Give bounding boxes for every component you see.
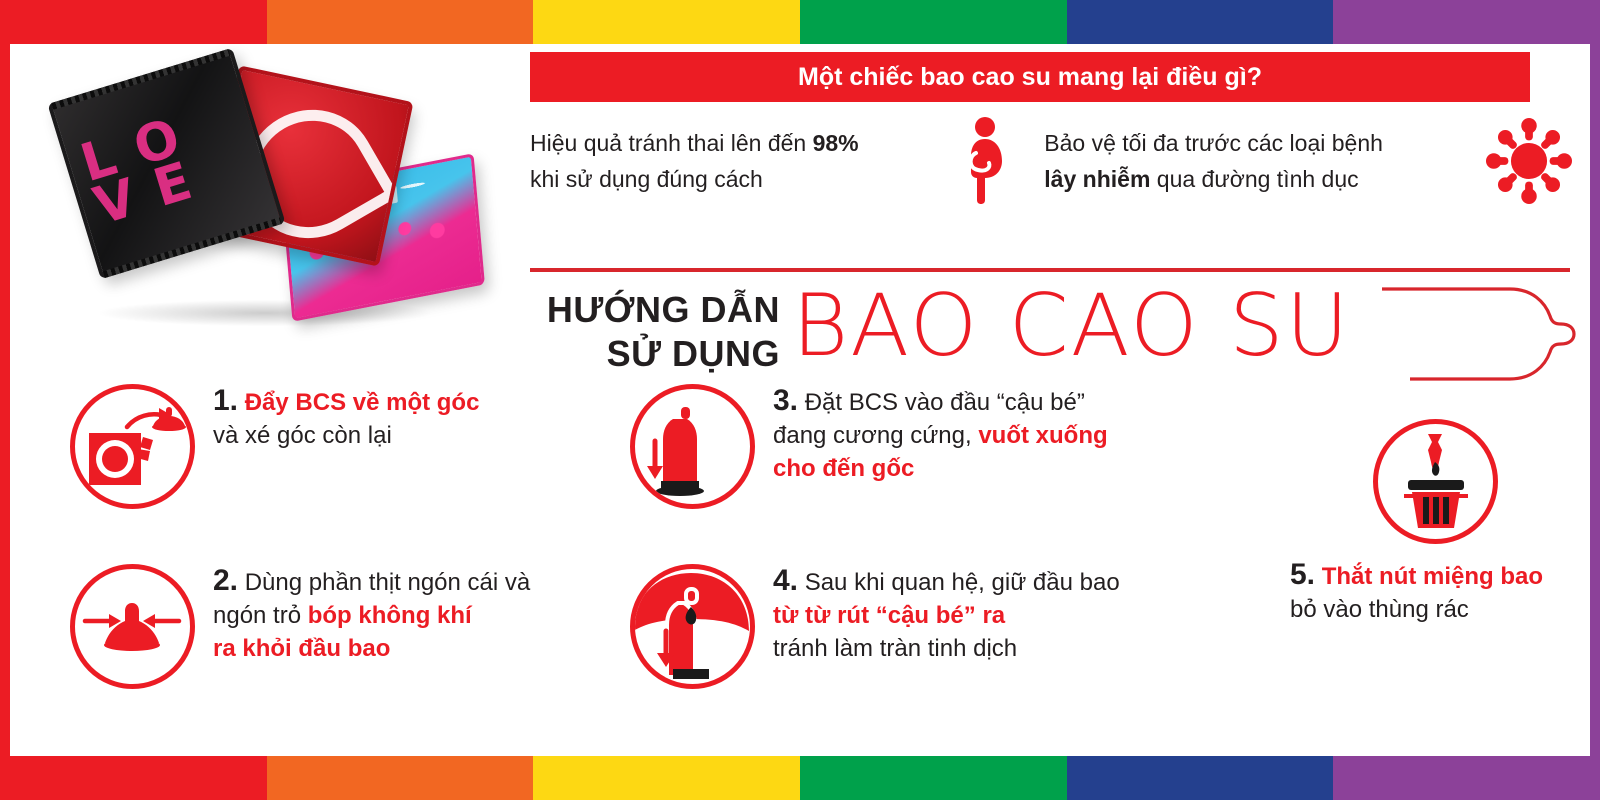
pregnant-woman-icon <box>934 116 1026 206</box>
step-5-highlight: Thắt nút miệng bao <box>1322 563 1543 590</box>
step-5-number: 5. <box>1290 558 1315 591</box>
rainbow-stripe-yellow <box>533 756 800 800</box>
condom-outline-icon <box>1382 266 1582 396</box>
withdraw-condom-icon <box>635 569 750 684</box>
stat-line1-pre: Hiệu quả tránh thai lên đến <box>530 130 813 156</box>
condom-packets-photo: LOVE ME L OV E <box>50 54 490 344</box>
rainbow-bar-top <box>0 0 1600 44</box>
stat-line2: khi sử dụng đúng cách <box>530 166 763 192</box>
step-1-number: 1. <box>213 384 238 417</box>
main-title: HƯỚNG DẪN SỬ DỤNG BAO CAO SU <box>530 282 1580 397</box>
rainbow-stripe-blue <box>1067 756 1334 800</box>
rainbow-stripe-orange <box>267 756 534 800</box>
rainbow-stripe-yellow <box>533 0 800 44</box>
rainbow-stripe-red <box>0 0 267 44</box>
step-4-number: 4. <box>773 564 798 597</box>
virus-icon <box>1483 118 1575 204</box>
step-2-number: 2. <box>213 564 238 597</box>
pinch-air-icon <box>75 569 190 684</box>
rainbow-stripe-orange <box>267 0 534 44</box>
tie-knot-trash-icon <box>1378 424 1493 539</box>
step-1: 1. Đẩy BCS về một góc và xé góc còn lại <box>70 384 479 509</box>
rainbow-bar-bottom <box>0 756 1600 800</box>
step-1-text: 1. Đẩy BCS về một góc và xé góc còn lại <box>195 384 479 452</box>
sti-line2-bold: lây nhiễm <box>1044 166 1150 192</box>
step-2-plain-1: Dùng phần thịt ngón cái và <box>245 569 531 596</box>
stat-contraception: Hiệu quả tránh thai lên đến 98% khi sử d… <box>530 116 1026 206</box>
header-banner: Một chiếc bao cao su mang lại điều gì? <box>530 52 1530 102</box>
step-2-highlight-1: bóp không khí <box>308 602 472 629</box>
step-4-text: 4. Sau khi quan hệ, giữ đầu bao từ từ rú… <box>755 564 1120 665</box>
title-subhead-line2: SỬ DỤNG <box>530 332 780 376</box>
stat-contraception-text: Hiệu quả tránh thai lên đến 98% khi sử d… <box>530 125 934 197</box>
roll-down-condom-icon <box>635 389 750 504</box>
step-3-plain-2: đang cương cứng, <box>773 422 978 449</box>
step-5-icon-circle <box>1373 419 1498 544</box>
step-2-icon-circle <box>70 564 195 689</box>
poster-canvas: LOVE ME L OV E Một chiếc bao cao su mang… <box>10 44 1590 756</box>
infographic-poster: LOVE ME L OV E Một chiếc bao cao su mang… <box>0 0 1600 800</box>
step-2-text: 2. Dùng phần thịt ngón cái và ngón trỏ b… <box>195 564 530 665</box>
step-4-plain-1: Sau khi quan hệ, giữ đầu bao <box>805 569 1120 596</box>
left-edge-strip <box>0 0 10 800</box>
step-4-highlight: từ từ rút “cậu bé” ra <box>773 602 1005 629</box>
rainbow-stripe-blue <box>1067 0 1334 44</box>
step-2-highlight-2: ra khỏi đầu bao <box>213 635 390 662</box>
step-2: 2. Dùng phần thịt ngón cái và ngón trỏ b… <box>70 564 530 689</box>
rainbow-stripe-purple <box>1333 0 1600 44</box>
rainbow-stripe-green <box>800 756 1067 800</box>
stat-percent-value: 98% <box>813 130 859 156</box>
step-3: 3. Đặt BCS vào đầu “cậu bé” đang cương c… <box>630 384 1108 509</box>
sti-line2-post: qua đường tình dục <box>1150 166 1358 192</box>
step-4-plain-2: tránh làm tràn tinh dịch <box>773 635 1017 662</box>
step-3-highlight-2: cho đến gốc <box>773 455 914 482</box>
right-edge-strip <box>1590 0 1600 800</box>
step-4-icon-circle <box>630 564 755 689</box>
step-3-text: 3. Đặt BCS vào đầu “cậu bé” đang cương c… <box>755 384 1108 485</box>
step-3-number: 3. <box>773 384 798 417</box>
step-1-highlight: Đẩy BCS về một góc <box>245 389 480 416</box>
step-5-plain: bỏ vào thùng rác <box>1290 596 1469 623</box>
step-1-plain: và xé góc còn lại <box>213 422 392 449</box>
stat-sti-text: Bảo vệ tối đa trước các loại bệnh lây nh… <box>1044 125 1483 197</box>
step-5-text: 5. Thắt nút miệng bao bỏ vào thùng rác <box>1290 558 1580 626</box>
sti-line1: Bảo vệ tối đa trước các loại bệnh <box>1044 130 1383 156</box>
header-banner-title: Một chiếc bao cao su mang lại điều gì? <box>798 63 1262 92</box>
title-headline: BAO CAO SU <box>792 270 1351 382</box>
step-3-highlight-1: vuốt xuống <box>978 422 1107 449</box>
title-subhead: HƯỚNG DẪN SỬ DỤNG <box>530 288 780 376</box>
title-subhead-line1: HƯỚNG DẪN <box>530 288 780 332</box>
step-5: 5. Thắt nút miệng bao bỏ vào thùng rác <box>1290 419 1580 626</box>
rainbow-stripe-red <box>0 756 267 800</box>
condom-packet-tear-icon <box>75 389 190 504</box>
step-4: 4. Sau khi quan hệ, giữ đầu bao từ từ rú… <box>630 564 1120 689</box>
rainbow-stripe-purple <box>1333 756 1600 800</box>
step-1-icon-circle <box>70 384 195 509</box>
step-3-plain-1: Đặt BCS vào đầu “cậu bé” <box>805 389 1085 416</box>
rainbow-stripe-green <box>800 0 1067 44</box>
step-2-plain-2: ngón trỏ <box>213 602 308 629</box>
stats-row: Hiệu quả tránh thai lên đến 98% khi sử d… <box>530 116 1575 206</box>
step-3-icon-circle <box>630 384 755 509</box>
stat-sti-protection: Bảo vệ tối đa trước các loại bệnh lây nh… <box>1026 116 1575 206</box>
